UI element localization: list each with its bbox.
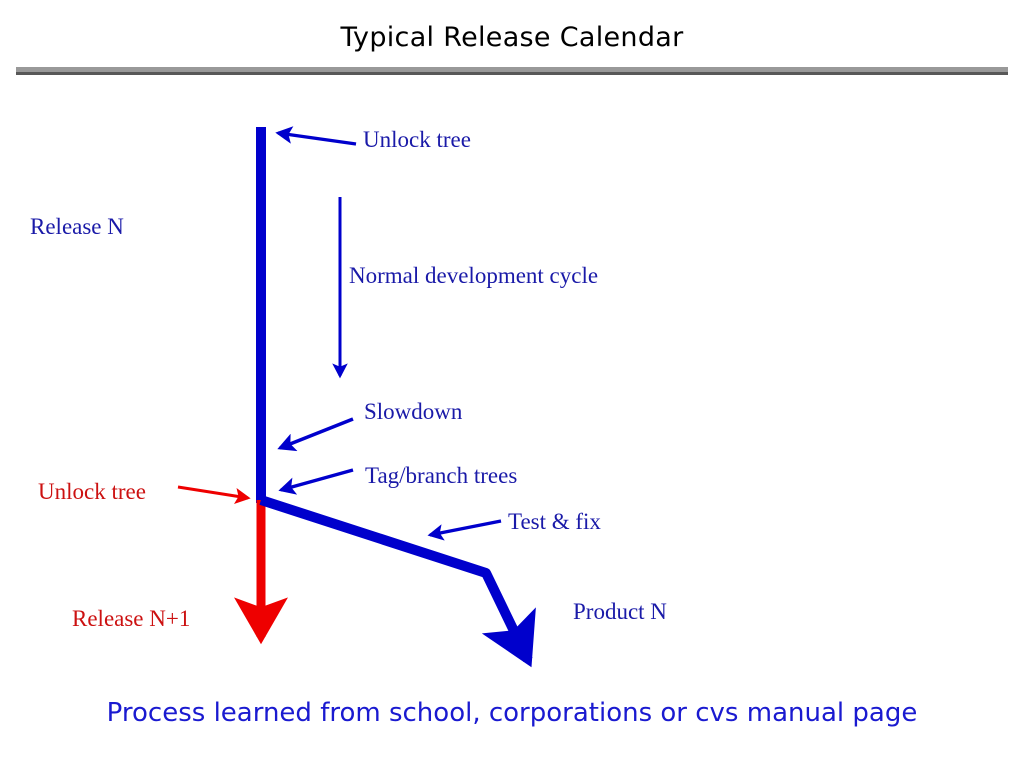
label-test-and-fix: Test & fix [508, 510, 601, 533]
label-normal-development-cycle: Normal development cycle [349, 264, 598, 287]
slide-caption: Process learned from school, corporation… [0, 698, 1024, 728]
label-release-n-plus-1: Release N+1 [72, 607, 190, 630]
unlock-tree-bottom-arrow [178, 487, 248, 498]
test-and-fix-arrow [430, 521, 501, 535]
label-unlock-tree-top: Unlock tree [363, 128, 471, 151]
slide-canvas: Typical Release Calendar [0, 0, 1024, 768]
label-tag-branch-trees: Tag/branch trees [365, 464, 517, 487]
tag-branch-trees-arrow [281, 470, 353, 490]
label-release-n: Release N [30, 215, 124, 238]
unlock-tree-top-arrow [278, 133, 356, 144]
label-slowdown: Slowdown [364, 400, 462, 423]
slowdown-arrow [280, 419, 353, 448]
release-calendar-diagram [0, 0, 1024, 768]
label-unlock-tree-bottom: Unlock tree [38, 480, 146, 503]
label-product-n: Product N [573, 600, 667, 623]
